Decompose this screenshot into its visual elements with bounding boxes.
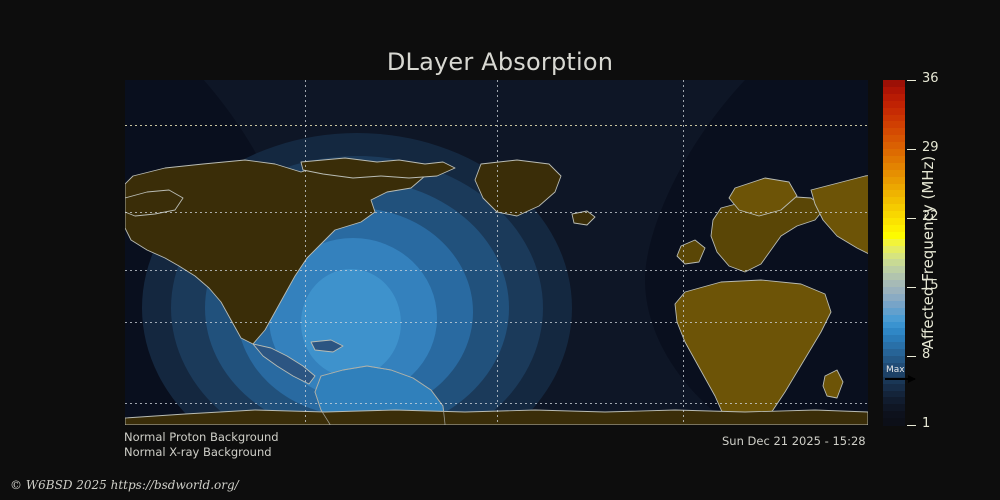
colorbar-tick-mark bbox=[907, 218, 916, 219]
colorbar-tick-mark bbox=[907, 149, 916, 150]
colorbar-tick-mark bbox=[907, 287, 916, 288]
colorbar-tick-mark bbox=[907, 356, 916, 357]
max-marker-label: Max bbox=[886, 366, 905, 375]
colorbar-tick-mark bbox=[907, 80, 916, 81]
timestamp: Sun Dec 21 2025 - 15:28 bbox=[722, 434, 866, 448]
max-marker-arrow-icon bbox=[885, 378, 915, 380]
world-map[interactable] bbox=[125, 80, 868, 425]
app-root: DLayer Absorption bbox=[0, 0, 1000, 500]
colorbar-axis-label: Affected Frequency (MHz) bbox=[916, 80, 1000, 425]
map-canvas bbox=[125, 80, 868, 425]
colorbar-tick: 1 bbox=[907, 425, 997, 426]
copyright-footer: © W6BSD 2025 https://bsdworld.org/ bbox=[10, 478, 239, 492]
colorbar-tick-mark bbox=[907, 425, 916, 426]
landmass-antarctica bbox=[125, 410, 868, 425]
proton-background-note: Normal Proton Background bbox=[124, 430, 279, 445]
xray-background-note: Normal X-ray Background bbox=[124, 445, 272, 460]
max-marker: Max bbox=[885, 366, 921, 388]
page-title: DLayer Absorption bbox=[0, 48, 1000, 76]
